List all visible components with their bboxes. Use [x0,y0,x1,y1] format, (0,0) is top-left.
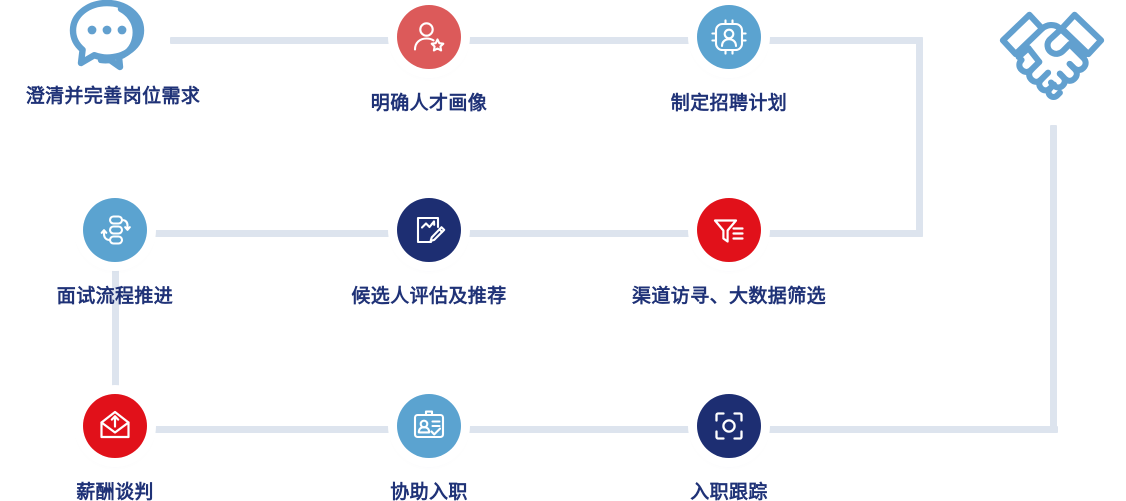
step-node-9[interactable]: 入职跟踪 [638,394,820,501]
step-badge-4[interactable] [697,198,761,262]
step-label-9: 入职跟踪 [690,480,768,501]
step-node-4[interactable]: 渠道访寻、大数据筛选 [638,198,820,310]
step-node-8[interactable]: 协助入职 [338,394,520,501]
step-badge-9[interactable] [697,394,761,458]
step-label-2: 明确人才画像 [371,91,487,117]
step-label-4: 渠道访寻、大数据筛选 [632,284,826,310]
step-node-3[interactable]: 制定招聘计划 [638,5,820,117]
step-badge-5[interactable] [397,198,461,262]
connector-right-down [916,37,923,237]
step-node-2[interactable]: 明确人才画像 [338,5,520,117]
step-label-3: 制定招聘计划 [671,91,787,117]
step-badge-7[interactable] [83,394,147,458]
chat-bubbles-icon [65,0,161,74]
step-badge-2[interactable] [397,5,461,69]
step-badge-8[interactable] [397,394,461,458]
process-flow-diagram: 澄清并完善岗位需求 明确人才画像 制定招聘计划 [0,0,1126,501]
handshake-icon [988,2,1116,117]
connector-up-to-handshake [1050,125,1057,433]
step-label-5: 候选人评估及推荐 [351,284,506,310]
step-label-7: 薪酬谈判 [76,480,154,501]
step-label-8: 协助入职 [390,480,468,501]
step-badge-3[interactable] [697,5,761,69]
step-node-6[interactable]: 面试流程推进 [24,198,206,310]
step-label-6: 面试流程推进 [57,284,173,310]
step-badge-6[interactable] [83,198,147,262]
step-node-5[interactable]: 候选人评估及推荐 [338,198,520,310]
step-label-1: 澄清并完善岗位需求 [26,84,201,110]
step-node-7[interactable]: 薪酬谈判 [24,394,206,501]
step-node-1[interactable]: 澄清并完善岗位需求 [22,0,204,110]
